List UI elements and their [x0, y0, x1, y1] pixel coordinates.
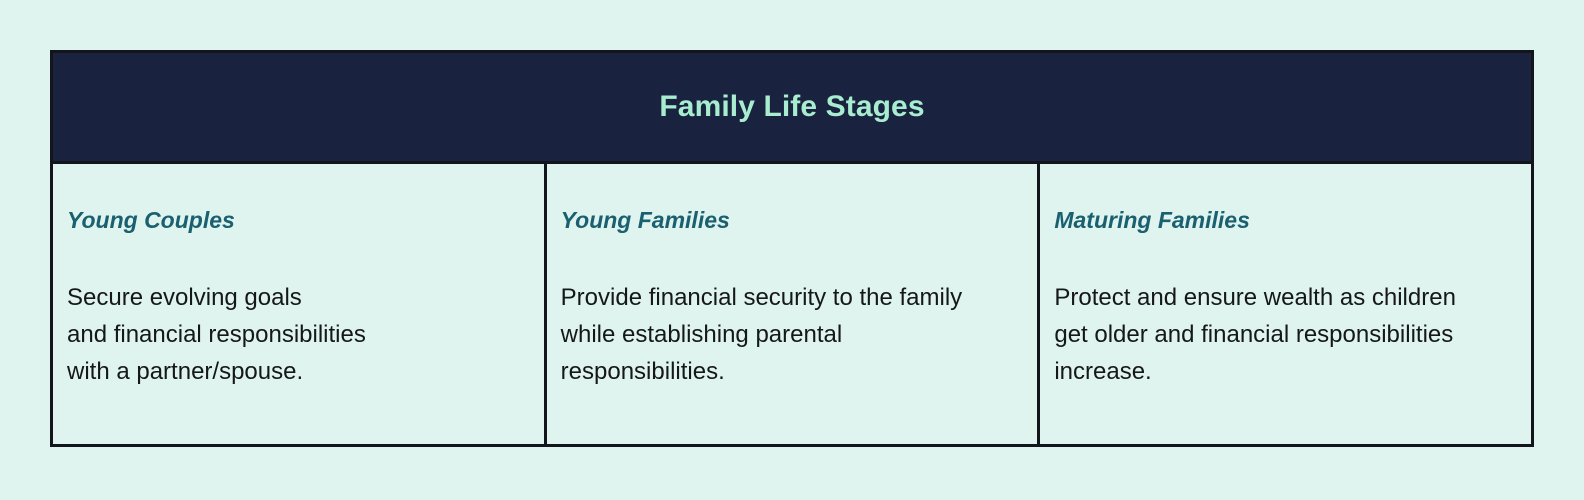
column-body-text: Protect and ensure wealth as children ge… — [1054, 279, 1505, 390]
family-life-stages-table: Family Life Stages Young Couples Secure … — [50, 50, 1534, 447]
table-column-young-couples: Young Couples Secure evolving goals and … — [53, 164, 544, 444]
column-heading: Young Families — [561, 208, 1012, 233]
table-header-band: Family Life Stages — [53, 53, 1531, 164]
column-heading: Maturing Families — [1054, 208, 1505, 233]
page-title: Family Life Stages — [659, 92, 924, 122]
column-body-text: Secure evolving goals and financial resp… — [67, 279, 518, 390]
table-column-young-families: Young Families Provide financial securit… — [544, 164, 1038, 444]
table-column-maturing-families: Maturing Families Protect and ensure wea… — [1037, 164, 1531, 444]
column-body-text: Provide financial security to the family… — [561, 279, 1012, 390]
table-columns-row: Young Couples Secure evolving goals and … — [53, 164, 1531, 444]
column-heading: Young Couples — [67, 208, 518, 233]
